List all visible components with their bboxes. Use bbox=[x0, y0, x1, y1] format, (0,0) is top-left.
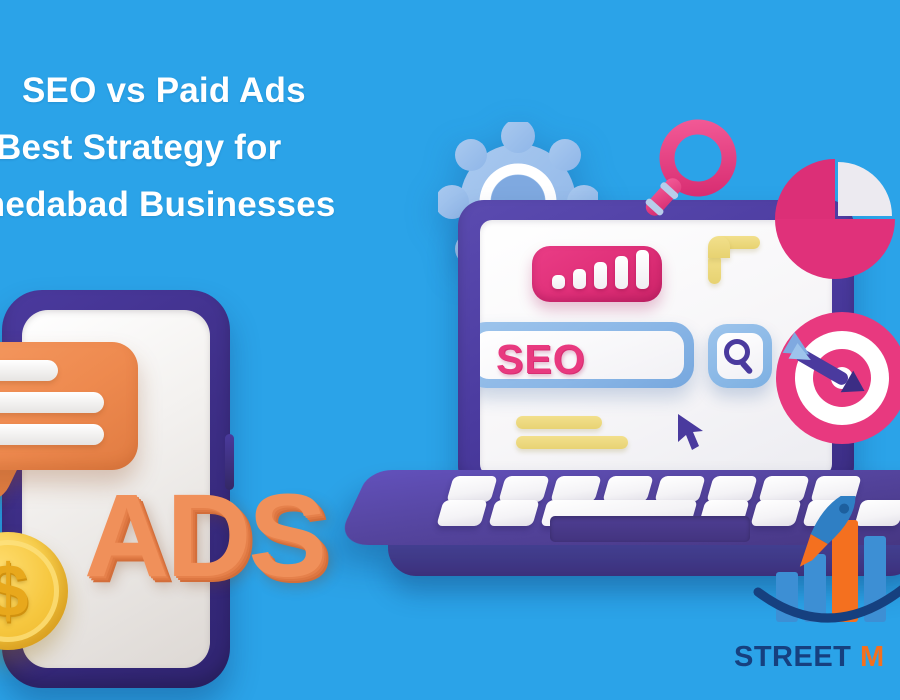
headline-line-2: Best Strategy for bbox=[0, 119, 470, 176]
signal-bars-badge bbox=[532, 246, 662, 302]
search-button-inner bbox=[717, 333, 763, 379]
keyboard-key[interactable] bbox=[488, 500, 539, 526]
logo-text-street: STREET bbox=[734, 641, 851, 673]
headline-line-3: medabad Businesses bbox=[0, 176, 470, 233]
search-icon bbox=[717, 333, 763, 379]
chat-bubble-line bbox=[0, 424, 104, 445]
arrow-cursor-icon bbox=[676, 412, 706, 456]
logo-text: STREET M bbox=[734, 641, 885, 674]
headline-block: SEO vs Paid Ads Best Strategy for medaba… bbox=[0, 62, 470, 233]
placeholder-pill-2 bbox=[516, 436, 628, 449]
target-dart-icon bbox=[772, 308, 900, 448]
keyboard-key[interactable] bbox=[498, 476, 549, 502]
dollar-sign-glyph: $ bbox=[0, 540, 59, 642]
dollar-coin-icon: $ bbox=[0, 532, 68, 650]
seo-search-field[interactable]: SEO bbox=[480, 322, 694, 388]
logo-mark bbox=[750, 496, 900, 636]
keyboard-key[interactable] bbox=[550, 476, 601, 502]
magnifier-glass-icon bbox=[628, 116, 758, 236]
street-m-logo[interactable]: STREET M bbox=[724, 496, 900, 696]
yellow-elbow-decoration bbox=[708, 236, 760, 284]
keyboard-key[interactable] bbox=[654, 476, 705, 502]
seo-search-field-inner: SEO bbox=[480, 331, 684, 379]
seo-search-text: SEO bbox=[496, 335, 586, 383]
phone-ads-illustration: ADS $ bbox=[0, 282, 308, 700]
rocket-icon bbox=[780, 496, 874, 568]
chat-bubble-line bbox=[0, 360, 58, 381]
logo-text-m: M bbox=[860, 641, 885, 673]
chat-bubble-line bbox=[0, 392, 104, 413]
placeholder-pill-1 bbox=[516, 416, 602, 429]
headline-line-1: SEO vs Paid Ads bbox=[0, 62, 470, 119]
keyboard-key[interactable] bbox=[602, 476, 653, 502]
keyboard-key[interactable] bbox=[436, 500, 487, 526]
dollar-coin-face: $ bbox=[0, 540, 59, 642]
keyboard-key[interactable] bbox=[446, 476, 497, 502]
search-button[interactable] bbox=[708, 324, 772, 388]
ads-wordmark: ADS bbox=[84, 477, 324, 595]
poster-canvas: SEO vs Paid Ads Best Strategy for medaba… bbox=[0, 0, 900, 700]
laptop-trackpad[interactable] bbox=[550, 516, 750, 542]
pie-chart-icon bbox=[772, 156, 898, 282]
